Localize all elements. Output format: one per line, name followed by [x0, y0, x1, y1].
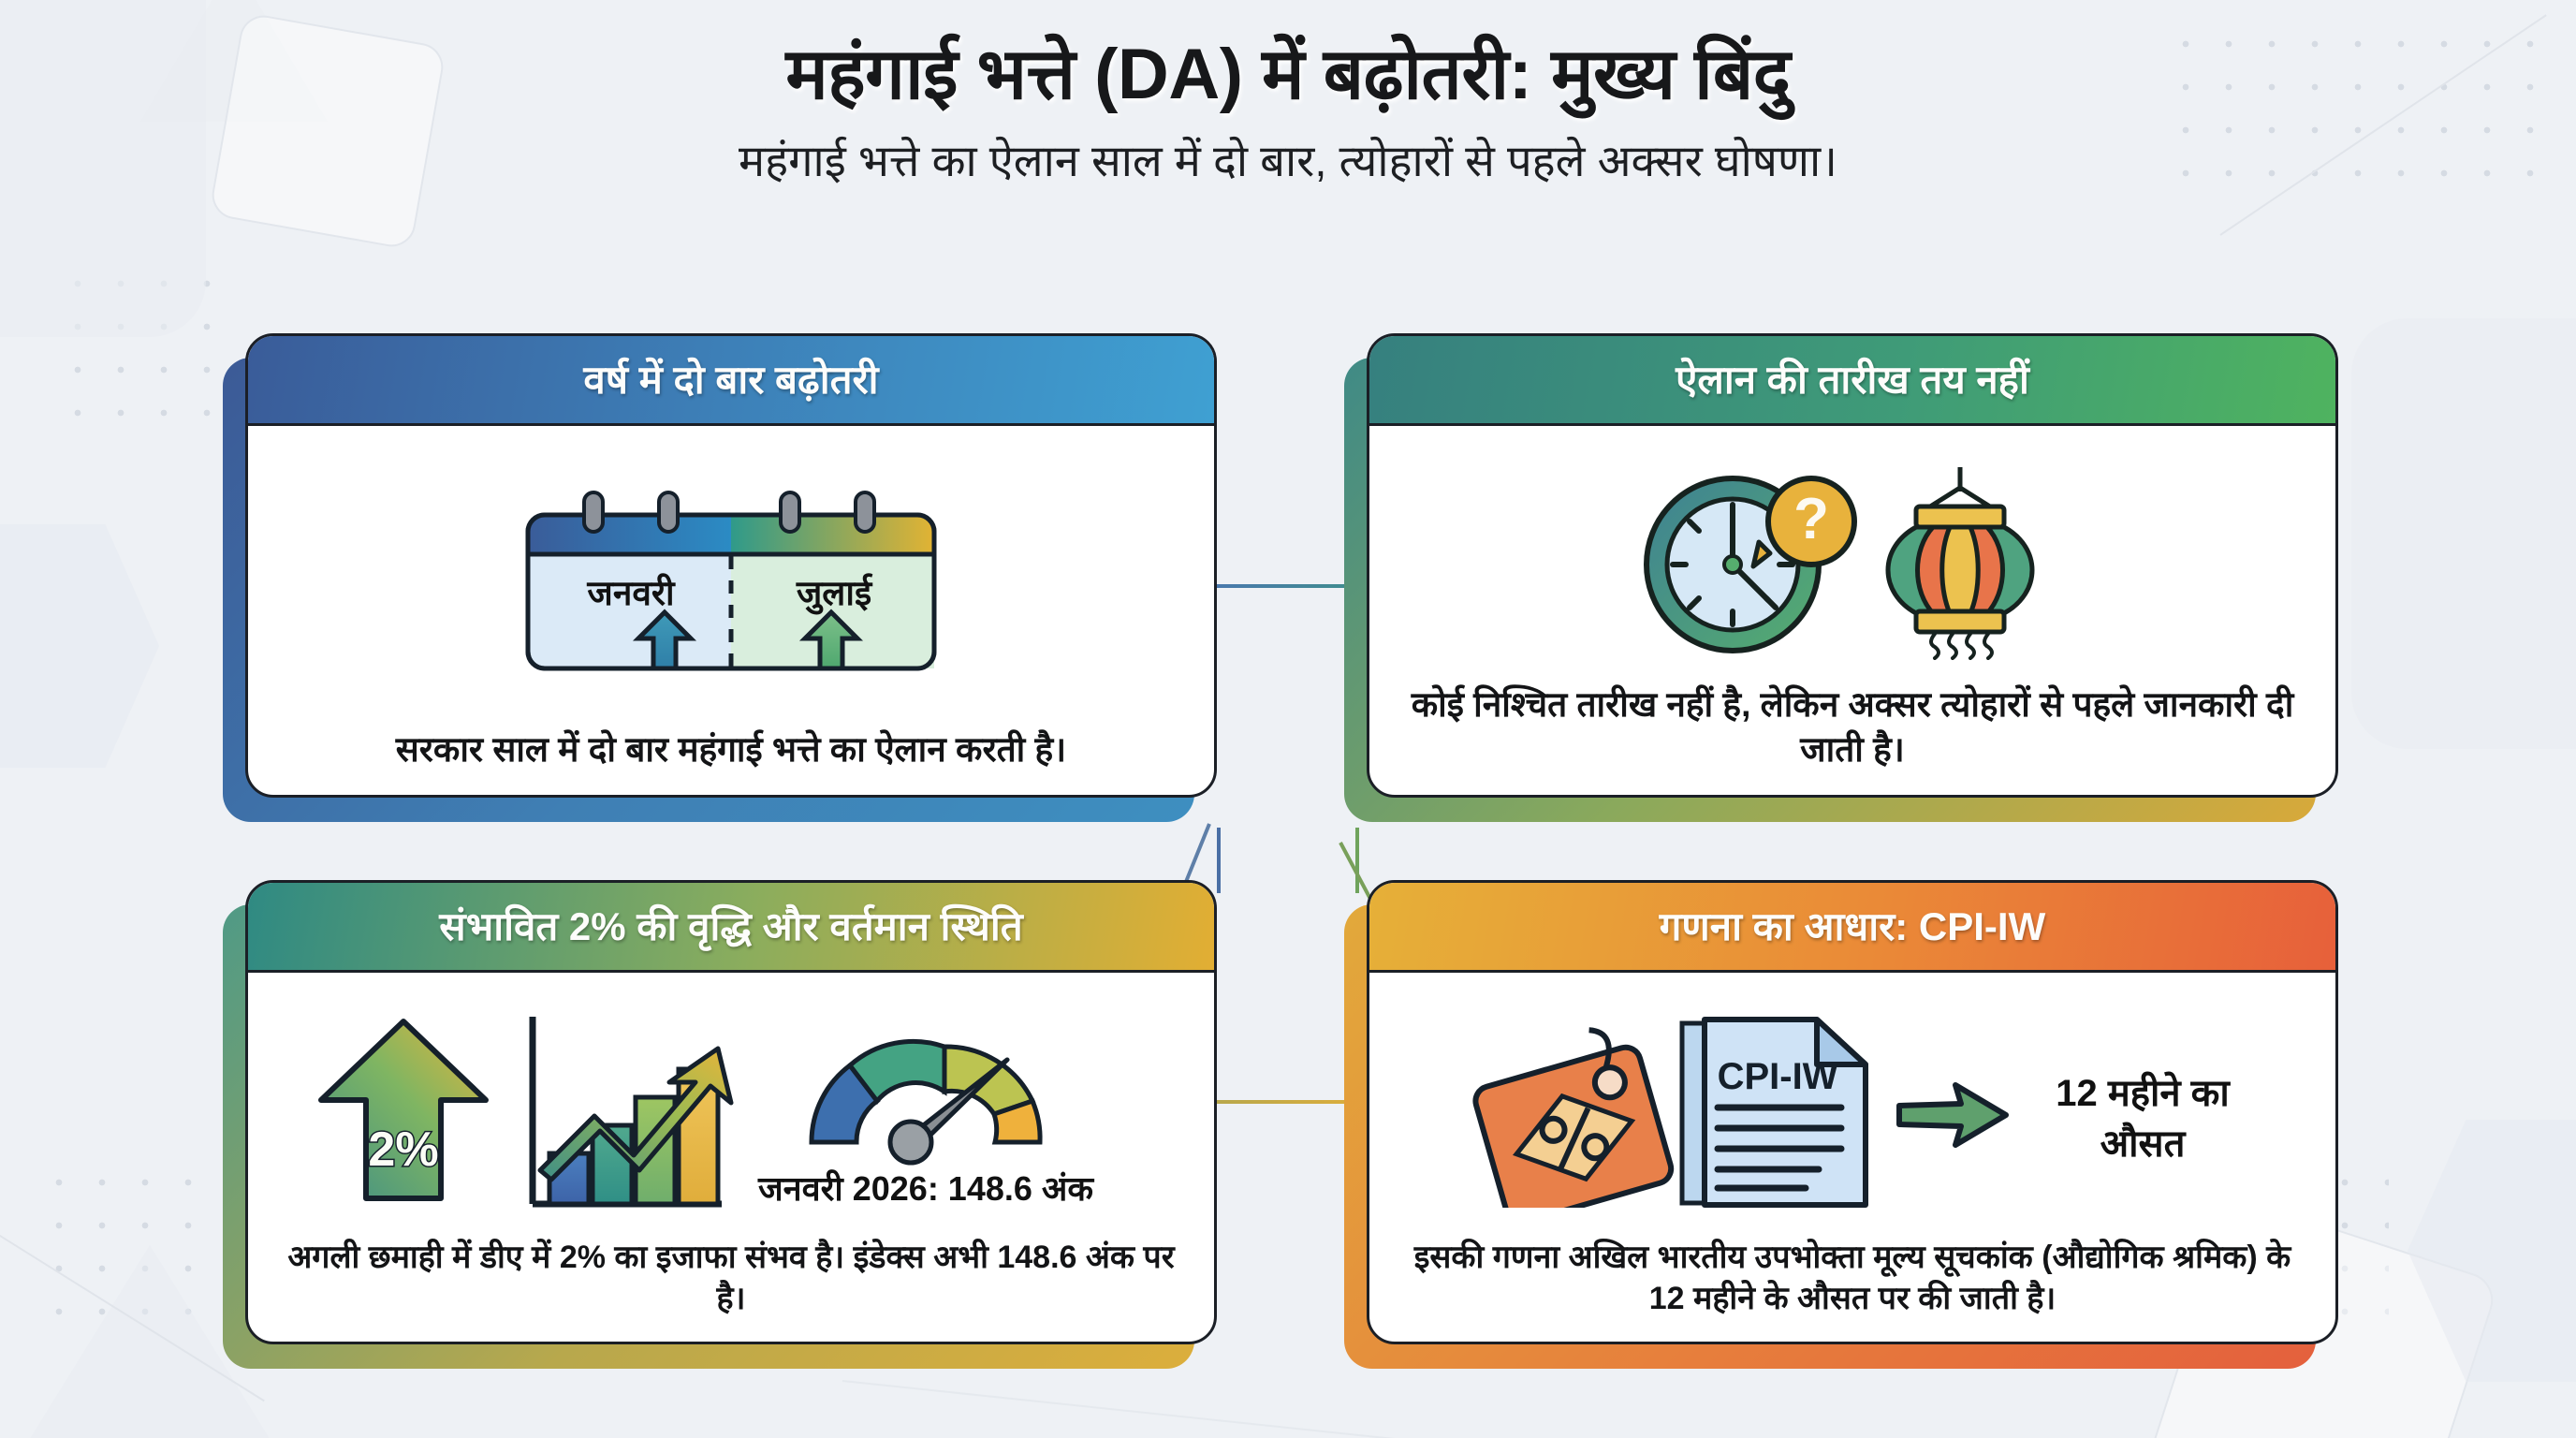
card-header: वर्ष में दो बार बढ़ोतरी [248, 336, 1214, 426]
card-title: ऐलान की तारीख तय नहीं [1676, 360, 2029, 400]
result-label-line2: औसत [2100, 1122, 2187, 1165]
card-title: संभावित 2% की वृद्धि और वर्तमान स्थिति [439, 907, 1022, 946]
card-cpi-iw-basis[interactable]: गणना का आधार: CPI-IW [1367, 880, 2338, 1344]
calendar-illustration: जनवरी जुलाई [272, 441, 1190, 727]
card-no-fixed-date[interactable]: ऐलान की तारीख तय नहीं [1367, 333, 2338, 798]
card-twice-a-year[interactable]: वर्ष में दो बार बढ़ोतरी [245, 333, 1217, 798]
gauge-caption: जनवरी 2026: 148.6 अंक [757, 1169, 1094, 1208]
card-description: सरकार साल में दो बार महंगाई भत्ते का ऐला… [396, 727, 1066, 776]
growth-illustration: 2% [272, 988, 1190, 1237]
svg-text:जुलाई: जुलाई [796, 573, 873, 615]
card-description: इसकी गणना अखिल भारतीय उपभोक्ता मूल्य सूच… [1394, 1237, 2311, 1323]
svg-text:जनवरी: जनवरी [586, 573, 676, 612]
cpi-illustration: CPI-IW [1394, 988, 2311, 1237]
lantern-icon [1888, 467, 2032, 658]
card-expected-hike[interactable]: संभावित 2% की वृद्धि और वर्तमान स्थिति [245, 880, 1217, 1344]
price-tag-icon [1465, 1019, 1675, 1208]
card-grid: वर्ष में दो बार बढ़ोतरी [245, 333, 2338, 1344]
infographic-header: महंगाई भत्ते (DA) में बढ़ोतरी: मुख्य बिं… [0, 32, 2576, 188]
percent-arrow-label: 2% [368, 1123, 438, 1177]
card-title: गणना का आधार: CPI-IW [1660, 907, 2045, 946]
svg-text:?: ? [1793, 487, 1829, 551]
card-header: ऐलान की तारीख तय नहीं [1369, 336, 2335, 426]
card-description: कोई निश्चित तारीख नहीं है, लेकिन अक्सर त… [1394, 682, 2311, 776]
arrow-right-icon [1899, 1085, 2006, 1145]
bg-hexagon-left [0, 524, 159, 768]
bar-chart-icon [533, 1017, 731, 1204]
card-header: गणना का आधार: CPI-IW [1369, 883, 2335, 973]
page-title: महंगाई भत्ते (DA) में बढ़ोतरी: मुख्य बिं… [0, 32, 2576, 119]
calendar-icon: जनवरी जुलाई [511, 491, 951, 678]
card-title: वर्ष में दो बार बढ़ोतरी [583, 360, 878, 400]
card-header: संभावित 2% की वृद्धि और वर्तमान स्थिति [248, 883, 1214, 973]
bg-shape-right [2351, 318, 2576, 749]
page-subtitle: महंगाई भत्ते का ऐलान साल में दो बार, त्य… [0, 134, 2576, 189]
bg-line-bottom-center [842, 1380, 1494, 1438]
gauge-icon: जनवरी 2026: 148.6 अंक [757, 1042, 1094, 1209]
card-description: अगली छमाही में डीए में 2% का इजाफा संभव … [272, 1237, 1190, 1323]
document-label: CPI-IW [1718, 1056, 1838, 1097]
cpi-document-icon: CPI-IW [1682, 1020, 1866, 1205]
result-label-line1: 12 महीने का [2056, 1071, 2231, 1114]
percent-arrow-icon: 2% [321, 1021, 486, 1198]
clock-lantern-illustration: ? [1394, 441, 2311, 682]
